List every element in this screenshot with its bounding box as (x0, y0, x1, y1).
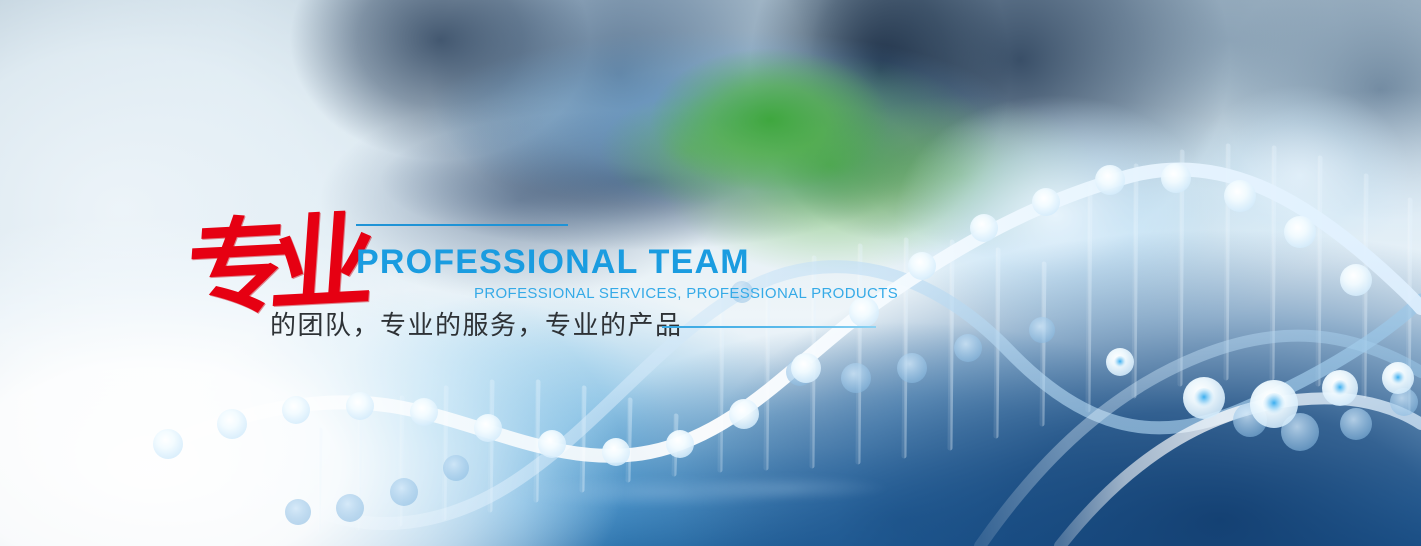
promotional-banner: 专业 PROFESSIONAL TEAM PROFESSIONAL SERVIC… (0, 0, 1421, 546)
subtitle-chinese: 的团队，专业的服务，专业的产品 (270, 305, 683, 342)
page-title: PROFESSIONAL TEAM (356, 243, 750, 282)
subtitle-bottom-rule (662, 326, 876, 328)
headline-top-rule (356, 224, 568, 226)
subtitle-english: PROFESSIONAL SERVICES, PROFESSIONAL PROD… (474, 285, 898, 302)
banner-content: 专业 PROFESSIONAL TEAM PROFESSIONAL SERVIC… (0, 0, 1421, 546)
